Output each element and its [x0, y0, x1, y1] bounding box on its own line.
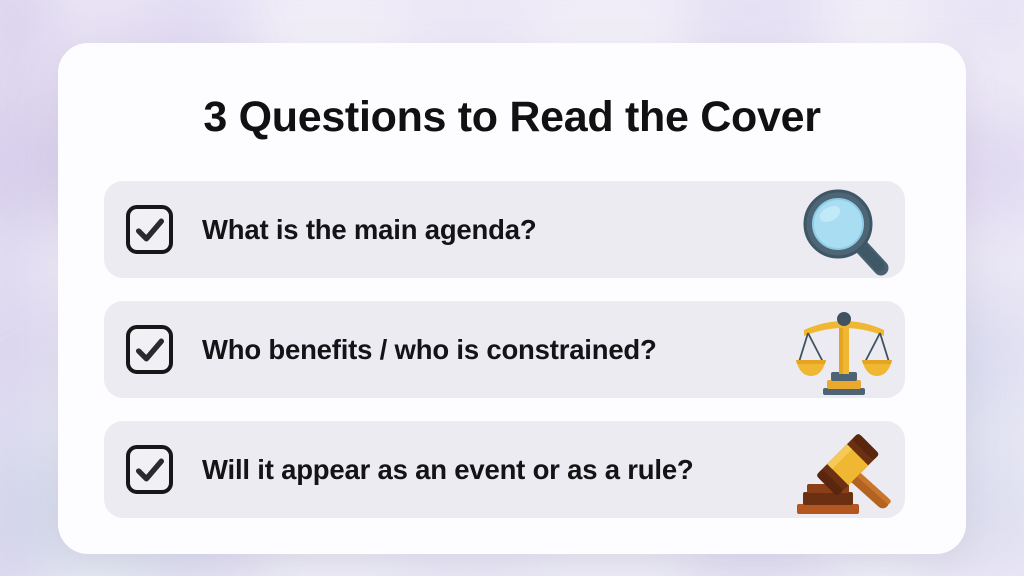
checklist: What is the main agenda?: [104, 181, 905, 518]
checkbox-checked-icon[interactable]: [126, 205, 173, 254]
page-title: 3 Questions to Read the Cover: [58, 93, 966, 142]
list-item[interactable]: What is the main agenda?: [104, 181, 905, 278]
balance-scale-emoji: [791, 300, 897, 400]
gavel-emoji: [791, 420, 897, 520]
list-item[interactable]: Will it appear as an event or as a rule?: [104, 421, 905, 518]
list-item-label: Who benefits / who is constrained?: [202, 334, 657, 366]
slide-canvas: 3 Questions to Read the Cover What is th…: [0, 0, 1024, 576]
list-item-label: What is the main agenda?: [202, 214, 536, 246]
magnifying-glass-emoji: [791, 180, 897, 280]
checkbox-checked-icon[interactable]: [126, 325, 173, 374]
content-card: 3 Questions to Read the Cover What is th…: [58, 43, 966, 554]
list-item[interactable]: Who benefits / who is constrained?: [104, 301, 905, 398]
list-item-label: Will it appear as an event or as a rule?: [202, 454, 694, 486]
checkbox-checked-icon[interactable]: [126, 445, 173, 494]
